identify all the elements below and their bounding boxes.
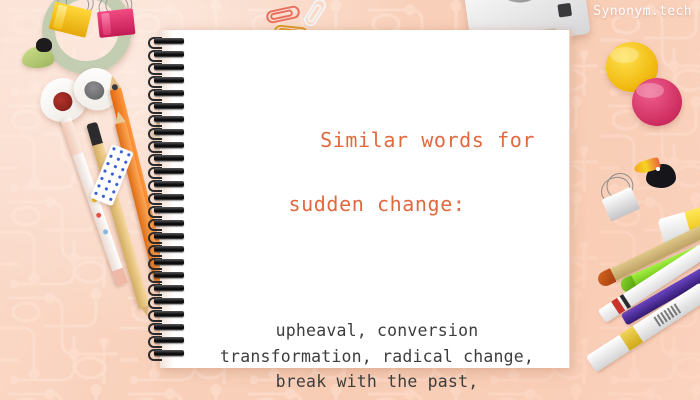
spiral-binding bbox=[148, 38, 194, 368]
bird-figurine bbox=[22, 38, 56, 68]
toucan-figurine bbox=[636, 156, 680, 190]
synonym-line: upheaval, conversion bbox=[184, 318, 570, 344]
headline-prefix: Similar words for bbox=[320, 128, 535, 152]
note-content: Similar words for sudden change: upheava… bbox=[184, 30, 570, 368]
binder-clip-pink bbox=[97, 4, 138, 38]
synonym-line: break with the past, bbox=[184, 369, 570, 395]
search-term: sudden change: bbox=[184, 188, 570, 220]
screenshot-stage: Similar words for sudden change: upheava… bbox=[0, 0, 700, 400]
macaron-pink bbox=[632, 78, 682, 126]
site-watermark: Synonym.tech bbox=[593, 4, 692, 19]
synonyms-list: upheaval, conversion transformation, rad… bbox=[184, 318, 570, 400]
synonym-line: transformation, radical change, bbox=[184, 344, 570, 370]
synonym-line: marked transformation, bbox=[184, 395, 570, 400]
headline-block: Similar words for sudden change: bbox=[184, 92, 570, 284]
notebook-page: Similar words for sudden change: upheava… bbox=[160, 30, 570, 368]
